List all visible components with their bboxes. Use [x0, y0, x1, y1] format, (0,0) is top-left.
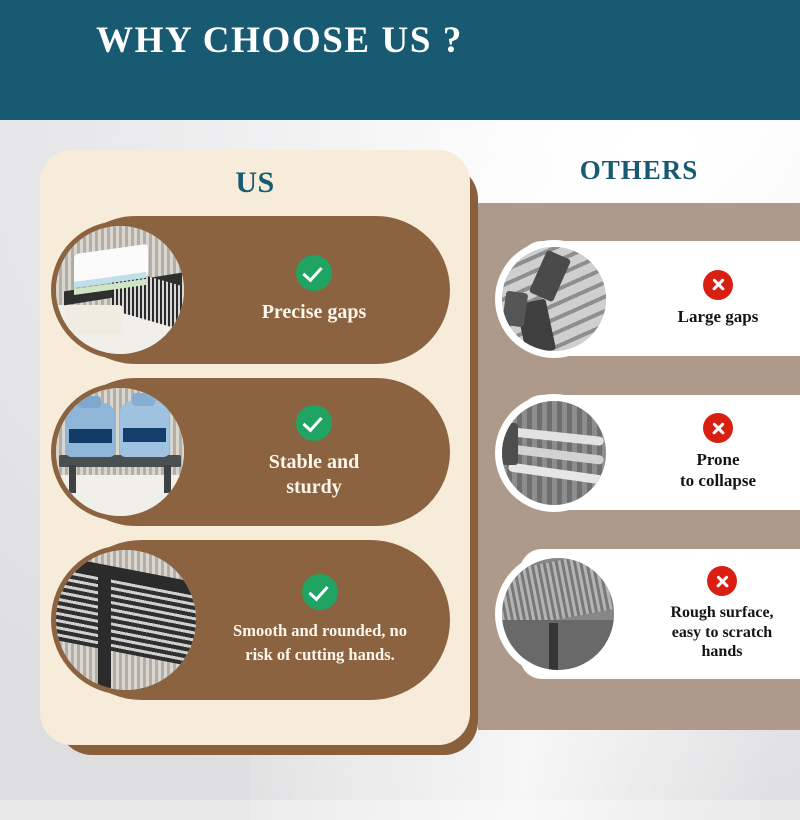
check-icon: [296, 255, 332, 291]
us-column-title: US: [40, 166, 470, 200]
us-row-1: Precise gaps: [62, 216, 450, 364]
x-icon: [703, 413, 733, 443]
others-column-title: OTHERS: [478, 155, 800, 186]
us-row-3: Smooth and rounded, norisk of cutting ha…: [62, 540, 450, 700]
x-icon: [707, 566, 737, 596]
check-icon: [302, 574, 338, 610]
others-row-3-label: Rough surface,easy to scratchhands: [670, 604, 773, 660]
us-row-2: Stable andsturdy: [62, 378, 450, 526]
others-row-1-content: Large gaps: [606, 270, 800, 328]
shelf-with-folded-shirts-photo: [56, 226, 184, 354]
others-row-3-content: Rough surface,easy to scratchhands: [614, 566, 800, 662]
infographic-page: WHY CHOOSE US ? OTHERS Large gaps: [0, 0, 800, 800]
page-title: WHY CHOOSE US ?: [96, 17, 566, 65]
others-panel: Large gaps Proneto collapse: [478, 203, 800, 730]
others-row-2: Proneto collapse: [520, 395, 800, 510]
us-row-2-content: Stable andsturdy: [184, 405, 450, 500]
us-row-1-label: Precise gaps: [262, 301, 367, 323]
others-row-3: Rough surface,easy to scratchhands: [520, 549, 800, 679]
us-row-1-content: Precise gaps: [184, 255, 450, 325]
rough-mesh-surface-photo: [502, 558, 614, 670]
shelf-with-water-jugs-photo: [56, 388, 184, 516]
others-row-1: Large gaps: [520, 241, 800, 356]
x-icon: [703, 270, 733, 300]
check-icon: [296, 405, 332, 441]
rounded-metal-shelf-edge-photo: [56, 550, 196, 690]
us-row-3-content: Smooth and rounded, norisk of cutting ha…: [196, 574, 450, 667]
items-falling-through-rack-photo: [502, 247, 606, 351]
others-row-2-label: Proneto collapse: [680, 450, 756, 490]
us-row-2-label: Stable andsturdy: [269, 451, 360, 498]
bent-collapsing-rack-photo: [502, 401, 606, 505]
others-row-2-content: Proneto collapse: [606, 413, 800, 491]
us-row-3-label: Smooth and rounded, norisk of cutting ha…: [233, 621, 407, 664]
header-banner: WHY CHOOSE US ?: [0, 0, 800, 120]
others-row-1-label: Large gaps: [678, 307, 759, 326]
us-panel: US Precise gaps: [40, 150, 470, 745]
